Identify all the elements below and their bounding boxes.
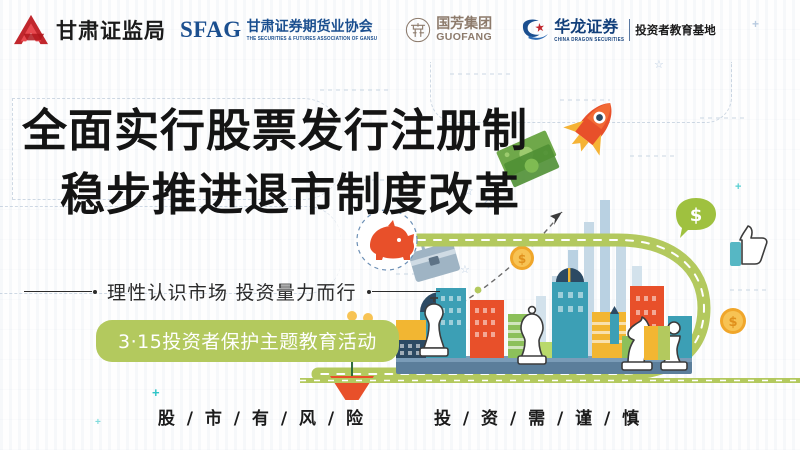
slogan-right: 投 / 资 / 需 / 谨 / 慎 [434, 404, 642, 429]
logo-divider [629, 19, 630, 41]
logo-guofang-name-en: GUOFANG [436, 32, 492, 43]
slogan-left: 股 / 市 / 有 / 风 / 险 [158, 404, 366, 429]
gold-coin-icon: $ [720, 308, 746, 334]
svg-text:$: $ [728, 315, 737, 330]
subtitle-row: 理性认识市场 投资量力而行 [24, 278, 474, 305]
logo-china-dragon-suffix: 投资者教育基地 [635, 22, 716, 38]
logo-china-dragon: 华龙证券 CHINA DRAGON SECURITIES 投资者教育基地 [520, 18, 716, 42]
poster-canvas: + + + + ☆ ☆ ☆ 甘肃证监局 SFAG 甘肃证券期货业协会 THE S… [0, 0, 800, 450]
headline-block: 全面实行股票发行注册制 稳步推进退市制度改革 [22, 108, 542, 217]
logo-sfag-abbr: SFAG [180, 17, 242, 43]
campaign-badge: 3·15投资者保护主题教育活动 [96, 320, 399, 362]
dollar-speech-bubble-icon: $ [676, 198, 716, 238]
plus-decor-icon: + [152, 386, 160, 399]
gold-coin-icon: $ [510, 246, 534, 270]
footer-slogan: 股 / 市 / 有 / 风 / 险 投 / 资 / 需 / 谨 / 慎 [0, 404, 800, 429]
book-icon [644, 326, 670, 360]
logo-china-dragon-name: 华龙证券 [554, 19, 624, 35]
logo-gansu-csrc: 甘肃证监局 [12, 13, 166, 47]
headline-line-1: 全面实行股票发行注册制 [22, 108, 542, 153]
logo-bar: 甘肃证监局 SFAG 甘肃证券期货业协会 THE SECURITIES & FU… [0, 0, 800, 60]
headline-line-2: 稳步推进退市制度改革 [60, 172, 542, 217]
round-seal-logo-icon [405, 17, 431, 43]
pencil-icon [610, 306, 619, 344]
thumbs-up-icon [730, 226, 767, 266]
svg-text:$: $ [518, 252, 526, 266]
logo-china-dragon-name-en: CHINA DRAGON SECURITIES [554, 37, 624, 43]
subtitle-text: 理性认识市场 投资量力而行 [107, 278, 357, 305]
logo-guofang: 国芳集团 GUOFANG [405, 17, 492, 43]
logo-guofang-name: 国芳集团 [436, 17, 492, 31]
wave-dragon-logo-icon [520, 18, 550, 42]
logo-sfag-name: 甘肃证券期货业协会 [247, 20, 378, 35]
impossible-triangle-logo-icon [12, 13, 50, 47]
logo-sfag-name-en: THE SECURITIES & FUTURES ASSOCIATION OF … [247, 35, 378, 41]
logo-sfag: SFAG 甘肃证券期货业协会 THE SECURITIES & FUTURES … [180, 17, 377, 43]
logo-gansu-csrc-name: 甘肃证监局 [56, 15, 166, 45]
svg-text:$: $ [690, 205, 703, 226]
